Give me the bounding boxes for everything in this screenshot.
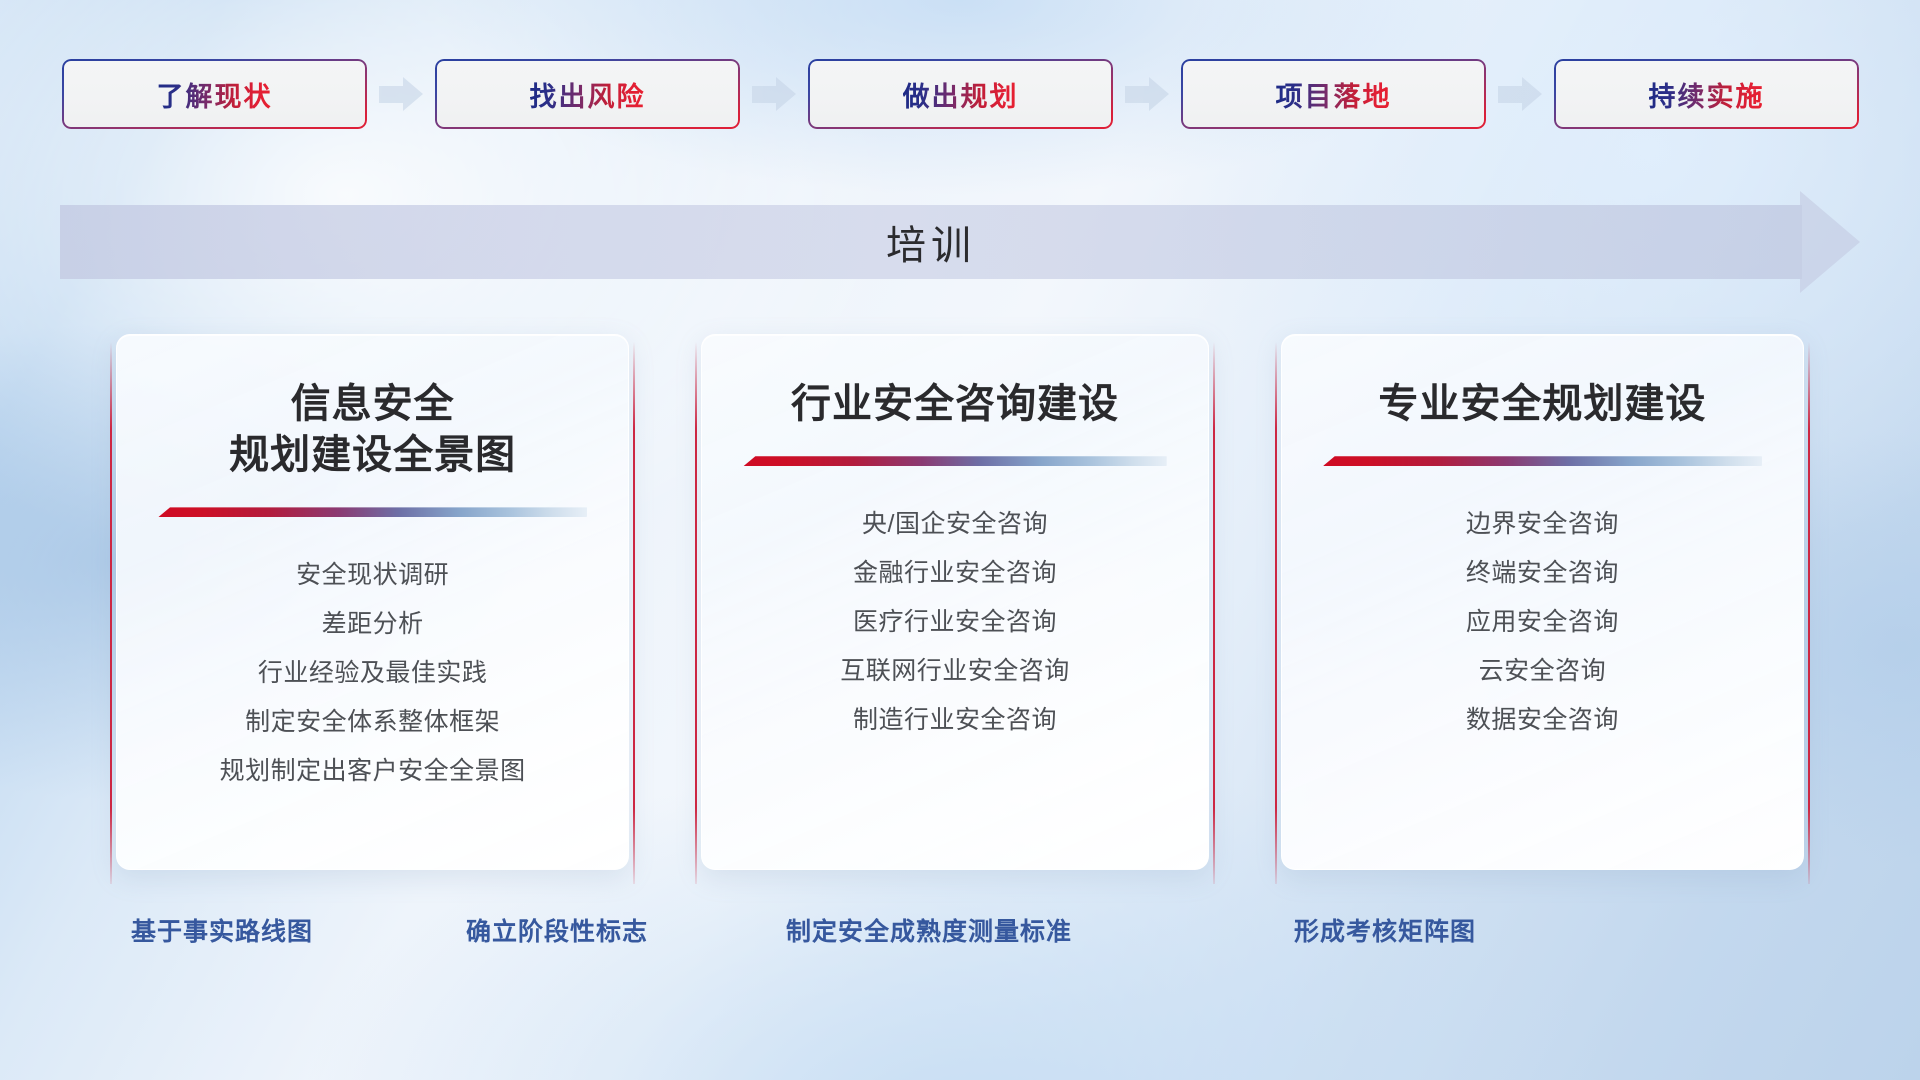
- step-box-4[interactable]: 持续实施: [1554, 59, 1859, 129]
- arrow-right-icon-0: [379, 77, 423, 111]
- card-wrapper-2: 专业安全规划建设 边界安全咨询 终端安全咨询 应用安全咨询 云安全咨询 数据安全…: [1275, 334, 1810, 874]
- list-item: 医疗行业安全咨询: [853, 602, 1057, 638]
- card-title-line2-0: 规划建设全景图: [229, 430, 516, 481]
- card-rail-right-1: [1213, 342, 1215, 884]
- card-rail-left-2: [1275, 342, 1277, 884]
- list-item: 安全现状调研: [296, 555, 449, 591]
- caption-3: 形成考核矩阵图: [1294, 912, 1476, 948]
- list-item: 制定安全体系整体框架: [245, 702, 500, 738]
- card-wrapper-0: 信息安全 规划建设全景图 安全现状调研 差距分析 行业经验及最佳实践 制定安全体…: [110, 334, 635, 874]
- list-item: 终端安全咨询: [1466, 553, 1619, 589]
- step-label-2: 做出规划: [903, 75, 1019, 114]
- list-item: 边界安全咨询: [1466, 504, 1619, 540]
- card-divider-2: [1323, 456, 1762, 466]
- step-box-0[interactable]: 了解现状: [62, 59, 367, 129]
- card-title-0: 信息安全 规划建设全景图: [229, 379, 516, 481]
- card-list-1: 央/国企安全咨询 金融行业安全咨询 医疗行业安全咨询 互联网行业安全咨询 制造行…: [730, 504, 1179, 736]
- list-item: 数据安全咨询: [1466, 700, 1619, 736]
- list-item: 制造行业安全咨询: [853, 700, 1057, 736]
- card-title-line1-0: 信息安全: [229, 379, 516, 430]
- card-0[interactable]: 信息安全 规划建设全景图 安全现状调研 差距分析 行业经验及最佳实践 制定安全体…: [116, 334, 629, 870]
- caption-2: 制定安全成熟度测量标准: [786, 912, 1072, 948]
- card-group: 信息安全 规划建设全景图 安全现状调研 差距分析 行业经验及最佳实践 制定安全体…: [110, 334, 1810, 874]
- list-item: 云安全咨询: [1479, 651, 1607, 687]
- step-box-1[interactable]: 找出风险: [435, 59, 740, 129]
- card-list-2: 边界安全咨询 终端安全咨询 应用安全咨询 云安全咨询 数据安全咨询: [1310, 504, 1775, 736]
- step-label-1: 找出风险: [530, 75, 646, 114]
- card-divider-0: [158, 507, 587, 517]
- card-1[interactable]: 行业安全咨询建设 央/国企安全咨询 金融行业安全咨询 医疗行业安全咨询 互联网行…: [701, 334, 1208, 870]
- list-item: 行业经验及最佳实践: [258, 653, 488, 689]
- caption-row: 基于事实路线图 确立阶段性标志 制定安全成熟度测量标准 形成考核矩阵图: [0, 912, 1920, 958]
- arrow-right-icon-1: [752, 77, 796, 111]
- banner-arrow-icon: [1800, 191, 1860, 293]
- arrow-right-icon-2: [1125, 77, 1169, 111]
- card-title-1: 行业安全咨询建设: [791, 379, 1119, 430]
- card-rail-left-0: [110, 342, 112, 884]
- arrow-right-icon-3: [1498, 77, 1542, 111]
- step-box-2[interactable]: 做出规划: [808, 59, 1113, 129]
- step-label-0: 了解现状: [157, 75, 273, 114]
- banner-title: 培训: [60, 205, 1802, 279]
- card-2[interactable]: 专业安全规划建设 边界安全咨询 终端安全咨询 应用安全咨询 云安全咨询 数据安全…: [1281, 334, 1804, 870]
- process-step-flow: 了解现状 找出风险 做出规划 项目落地 持续实施: [62, 58, 1857, 130]
- list-item: 规划制定出客户安全全景图: [220, 751, 526, 787]
- card-rail-right-2: [1808, 342, 1810, 884]
- list-item: 央/国企安全咨询: [862, 504, 1048, 540]
- card-title-2: 专业安全规划建设: [1378, 379, 1706, 430]
- step-box-3[interactable]: 项目落地: [1181, 59, 1486, 129]
- list-item: 金融行业安全咨询: [853, 553, 1057, 589]
- list-item: 差距分析: [322, 604, 424, 640]
- caption-0: 基于事实路线图: [131, 912, 313, 948]
- training-banner: 培训: [60, 205, 1860, 279]
- card-rail-right-0: [633, 342, 635, 884]
- card-title-line1-2: 专业安全规划建设: [1378, 379, 1706, 430]
- card-title-line1-1: 行业安全咨询建设: [791, 379, 1119, 430]
- caption-1: 确立阶段性标志: [466, 912, 648, 948]
- list-item: 互联网行业安全咨询: [840, 651, 1070, 687]
- card-wrapper-1: 行业安全咨询建设 央/国企安全咨询 金融行业安全咨询 医疗行业安全咨询 互联网行…: [695, 334, 1214, 874]
- list-item: 应用安全咨询: [1466, 602, 1619, 638]
- card-divider-1: [743, 456, 1166, 466]
- step-label-3: 项目落地: [1276, 75, 1392, 114]
- card-list-0: 安全现状调研 差距分析 行业经验及最佳实践 制定安全体系整体框架 规划制定出客户…: [145, 555, 600, 787]
- step-label-4: 持续实施: [1649, 75, 1765, 114]
- card-rail-left-1: [695, 342, 697, 884]
